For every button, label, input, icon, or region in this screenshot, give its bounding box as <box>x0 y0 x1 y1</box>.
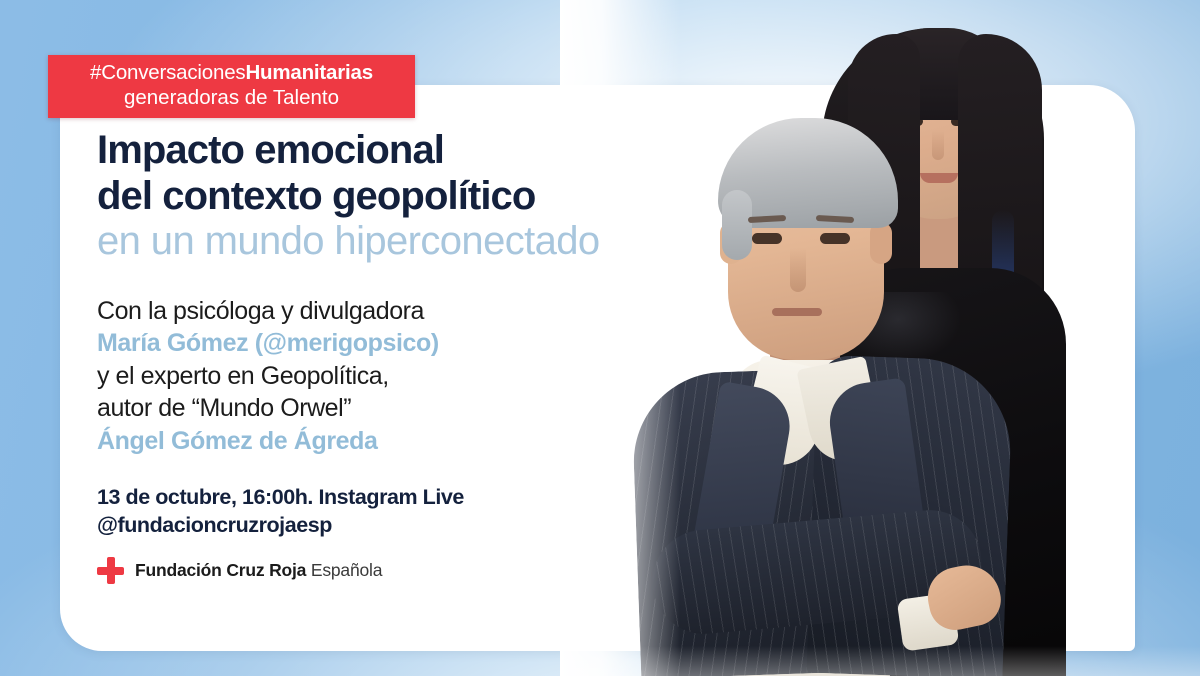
man-nose <box>790 248 806 292</box>
title-line-2: del contexto geopolítico <box>97 174 737 220</box>
title-line-3: en un mundo hiperconectado <box>97 219 737 265</box>
campaign-subtitle: generadoras de Talento <box>124 86 339 110</box>
title-line-1: Impacto emocional <box>97 128 737 174</box>
man-eye-right <box>820 233 850 244</box>
organization-logo: Fundación Cruz Roja Española <box>97 557 737 584</box>
speaker-name-angel: Ángel Gómez de Ágreda <box>97 425 737 458</box>
organization-name: Fundación Cruz Roja Española <box>135 560 382 581</box>
speaker-intro-2: y el experto en Geopolítica, <box>97 360 737 393</box>
poster-text-block: Impacto emocional del contexto geopolíti… <box>97 128 737 584</box>
campaign-banner: #ConversacionesHumanitarias generadoras … <box>48 55 415 118</box>
woman-mouth <box>920 173 958 183</box>
man-eye-left <box>752 233 782 244</box>
man-mouth <box>772 308 822 316</box>
event-date-line: 13 de octubre, 16:00h. Instagram Live <box>97 484 737 512</box>
speaker-intro-1: Con la psicóloga y divulgadora <box>97 295 737 328</box>
man-ear-right <box>870 222 892 264</box>
event-details: 13 de octubre, 16:00h. Instagram Live @f… <box>97 484 737 540</box>
organization-name-bold: Fundación Cruz Roja <box>135 560 306 580</box>
campaign-hashtag-regular: #Conversaciones <box>90 61 245 84</box>
organization-name-regular: Española <box>311 560 382 580</box>
speaker-intro-3: autor de “Mundo Orwel” <box>97 392 737 425</box>
red-cross-icon <box>97 557 124 584</box>
woman-nose <box>932 130 944 160</box>
event-title: Impacto emocional del contexto geopolíti… <box>97 128 737 265</box>
poster-canvas: #ConversacionesHumanitarias generadoras … <box>0 0 1200 676</box>
event-handle: @fundacioncruzrojaesp <box>97 512 737 540</box>
speakers-block: Con la psicóloga y divulgadora María Góm… <box>97 295 737 458</box>
speaker-name-maria: María Gómez (@merigopsico) <box>97 327 737 360</box>
campaign-hashtag-bold: Humanitarias <box>245 61 372 84</box>
campaign-hashtag: #ConversacionesHumanitarias <box>90 62 373 85</box>
